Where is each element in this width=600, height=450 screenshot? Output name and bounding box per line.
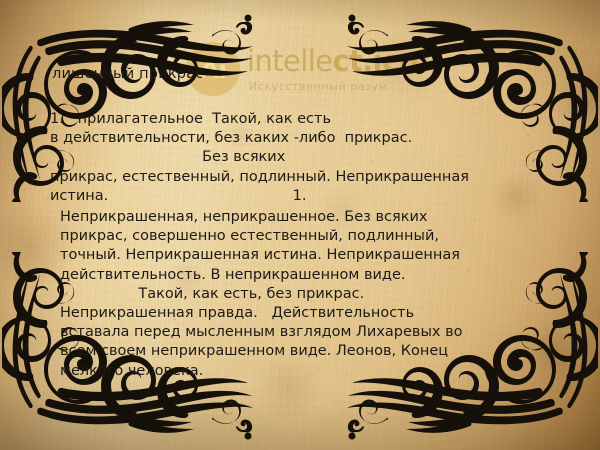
- dictionary-entry-content: лишенный прикрас 1. прилагательное Такой…: [0, 0, 600, 450]
- entry-definition-block: 1. прилагательное Такой, как есть в дейс…: [50, 110, 560, 206]
- entry-body-block: Неприкрашенная, неприкрашенное. Без всяк…: [60, 208, 560, 381]
- parchment-page: Ai intellect.icu Искусственный разум: [0, 0, 600, 450]
- entry-headword: лишенный прикрас: [52, 66, 203, 82]
